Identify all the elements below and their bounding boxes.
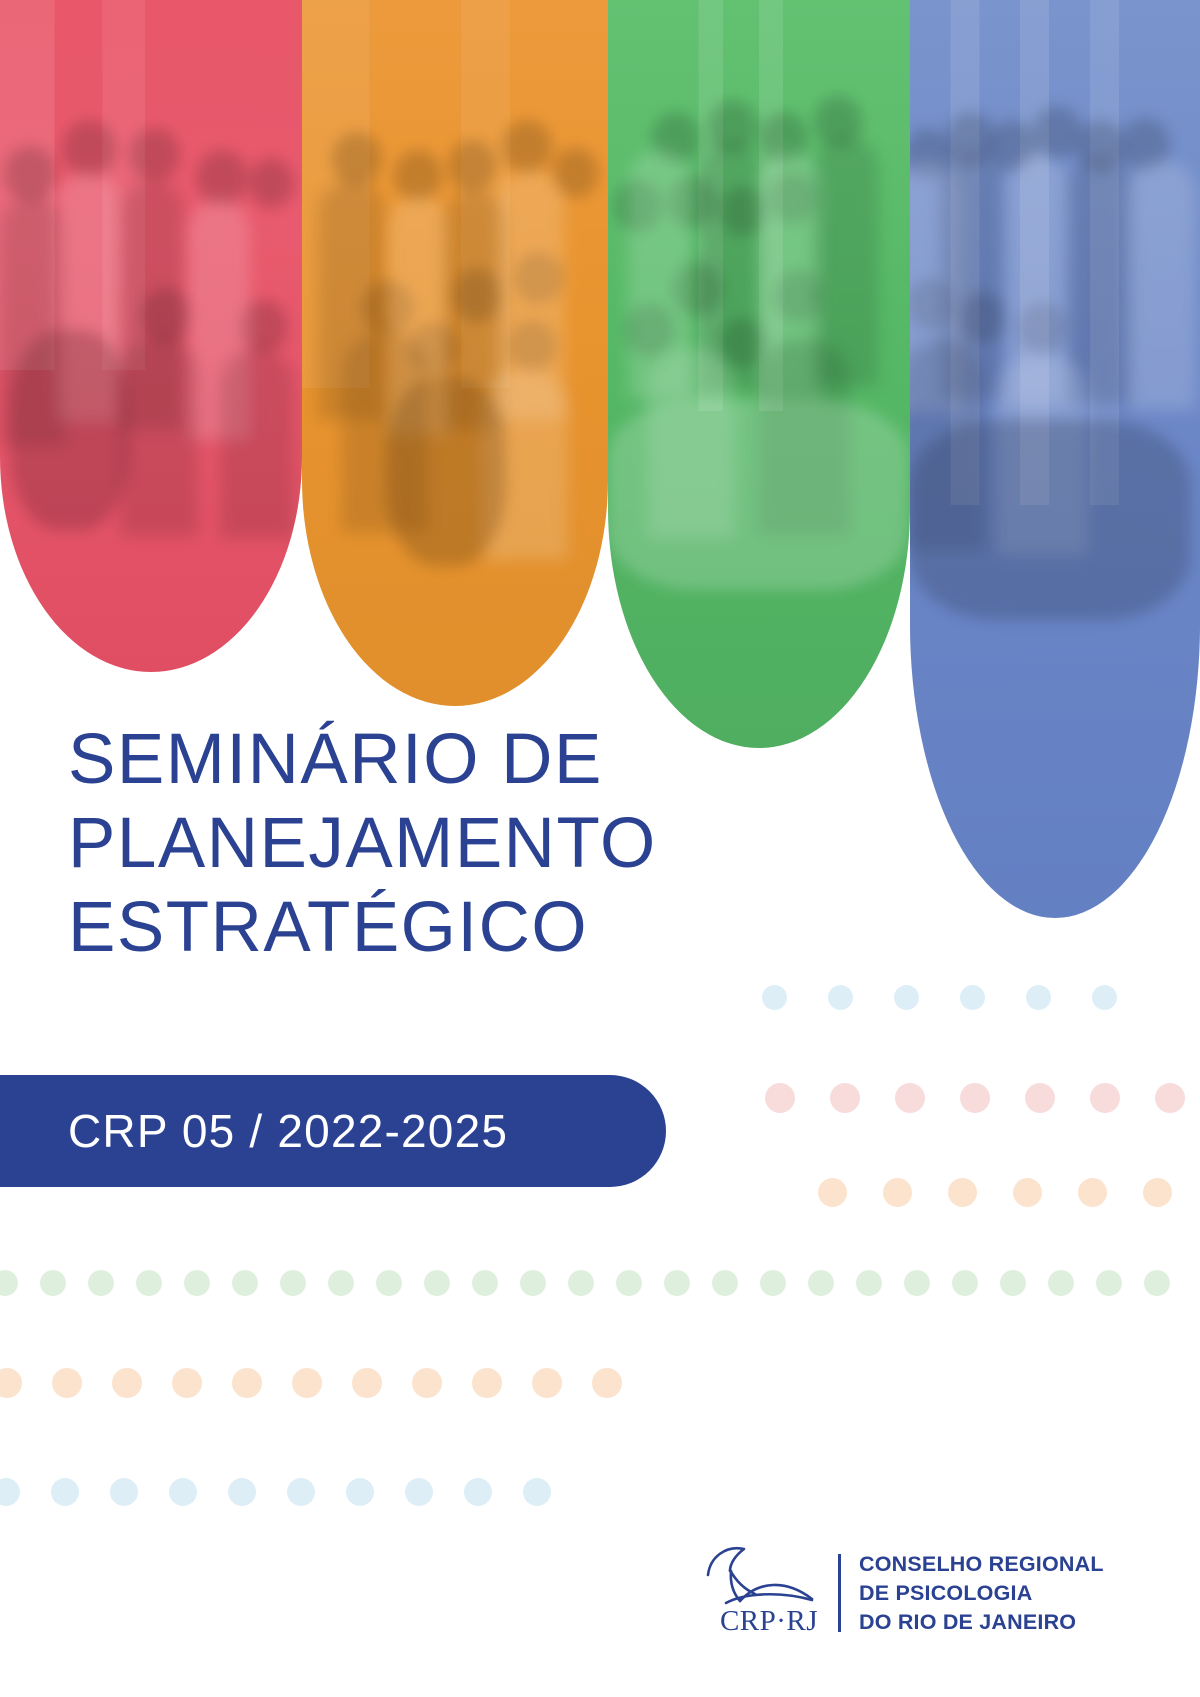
decorative-dot — [1143, 1178, 1172, 1207]
decorative-dot — [808, 1270, 834, 1296]
decorative-dot — [376, 1270, 402, 1296]
decorative-dot — [760, 1270, 786, 1296]
decorative-dot — [472, 1368, 502, 1398]
decorative-dot — [1144, 1270, 1170, 1296]
photo-crowd-green — [608, 0, 910, 748]
decorative-dot — [472, 1270, 498, 1296]
decorative-dot — [712, 1270, 738, 1296]
decorative-dot — [136, 1270, 162, 1296]
decorative-dot — [328, 1270, 354, 1296]
decorative-dot — [592, 1368, 622, 1398]
decorative-dot — [0, 1368, 22, 1398]
decorative-dot — [568, 1270, 594, 1296]
decorative-dot — [1000, 1270, 1026, 1296]
dot-row-light-blue-lower — [0, 1478, 551, 1506]
decorative-dot — [960, 1083, 990, 1113]
decorative-dot — [960, 985, 985, 1010]
decorative-dot — [232, 1270, 258, 1296]
photo-column-blue — [910, 0, 1200, 918]
decorative-dot — [232, 1368, 262, 1398]
decorative-dot — [110, 1478, 138, 1506]
dot-row-pink — [765, 1083, 1185, 1113]
page-title-line-2: PLANEJAMENTO — [68, 802, 858, 886]
decorative-dot — [828, 985, 853, 1010]
decorative-dot — [40, 1270, 66, 1296]
dot-row-orange-left — [0, 1368, 622, 1398]
dot-row-orange-right — [818, 1178, 1172, 1207]
decorative-dot — [280, 1270, 306, 1296]
decorative-dot — [1155, 1083, 1185, 1113]
decorative-dot — [172, 1368, 202, 1398]
decorative-dot — [346, 1478, 374, 1506]
crp-rj-logo: CRP·RJ CONSELHO REGIONAL DE PSICOLOGIA D… — [700, 1534, 1120, 1652]
decorative-dot — [883, 1178, 912, 1207]
decorative-dot — [616, 1270, 642, 1296]
decorative-dot — [184, 1270, 210, 1296]
decorative-dot — [412, 1368, 442, 1398]
decorative-dot — [88, 1270, 114, 1296]
decorative-dot — [894, 985, 919, 1010]
decorative-dot — [895, 1083, 925, 1113]
decorative-dot — [1013, 1178, 1042, 1207]
crp-rj-bird-mark-icon: CRP·RJ — [700, 1537, 832, 1649]
logo-divider — [838, 1554, 841, 1632]
decorative-dot — [228, 1478, 256, 1506]
decorative-dot — [818, 1178, 847, 1207]
decorative-dot — [1048, 1270, 1074, 1296]
crp-rj-wordmark: CRP·RJ — [706, 1605, 832, 1638]
decorative-dot — [352, 1368, 382, 1398]
decorative-dot — [0, 1478, 20, 1506]
decorative-dot — [112, 1368, 142, 1398]
logo-text-line-3: DO RIO DE JANEIRO — [859, 1609, 1104, 1636]
page-title: SEMINÁRIO DE PLANEJAMENTO ESTRATÉGICO — [68, 718, 858, 970]
decorative-dot — [424, 1270, 450, 1296]
decorative-dot — [904, 1270, 930, 1296]
page-title-line-1: SEMINÁRIO DE — [68, 718, 858, 802]
photo-crowd-blue — [910, 0, 1200, 918]
logo-text-line-2: DE PSICOLOGIA — [859, 1580, 1104, 1607]
decorative-dot — [1026, 985, 1051, 1010]
photo-crowd-red — [0, 0, 302, 672]
decorative-dot — [1092, 985, 1117, 1010]
decorative-dot — [532, 1368, 562, 1398]
decorative-dot — [287, 1478, 315, 1506]
decorative-dot — [664, 1270, 690, 1296]
decorative-dot — [762, 985, 787, 1010]
edition-badge-label: CRP 05 / 2022-2025 — [68, 1104, 508, 1158]
decorative-dot — [169, 1478, 197, 1506]
decorative-dot — [1096, 1270, 1122, 1296]
logo-text-line-1: CONSELHO REGIONAL — [859, 1551, 1104, 1578]
decorative-dot — [1090, 1083, 1120, 1113]
logo-text-block: CONSELHO REGIONAL DE PSICOLOGIA DO RIO D… — [859, 1551, 1104, 1636]
page-title-line-3: ESTRATÉGICO — [68, 886, 858, 970]
photo-column-orange — [302, 0, 608, 706]
edition-badge: CRP 05 / 2022-2025 — [0, 1075, 666, 1187]
decorative-dot — [830, 1083, 860, 1113]
decorative-dot — [405, 1478, 433, 1506]
decorative-dot — [520, 1270, 546, 1296]
decorative-dot — [952, 1270, 978, 1296]
decorative-dot — [52, 1368, 82, 1398]
photo-column-red — [0, 0, 302, 672]
decorative-dot — [856, 1270, 882, 1296]
decorative-dot — [51, 1478, 79, 1506]
dot-row-light-blue-upper — [762, 985, 1117, 1010]
cover-page: SEMINÁRIO DE PLANEJAMENTO ESTRATÉGICO CR… — [0, 0, 1200, 1697]
decorative-dot — [464, 1478, 492, 1506]
dot-row-green-full — [0, 1270, 1170, 1296]
decorative-dot — [523, 1478, 551, 1506]
photo-crowd-orange — [302, 0, 608, 706]
decorative-dot — [765, 1083, 795, 1113]
decorative-dot — [1025, 1083, 1055, 1113]
decorative-dot — [1078, 1178, 1107, 1207]
photo-column-green — [608, 0, 910, 748]
decorative-dot — [292, 1368, 322, 1398]
decorative-dot — [948, 1178, 977, 1207]
decorative-dot — [0, 1270, 18, 1296]
